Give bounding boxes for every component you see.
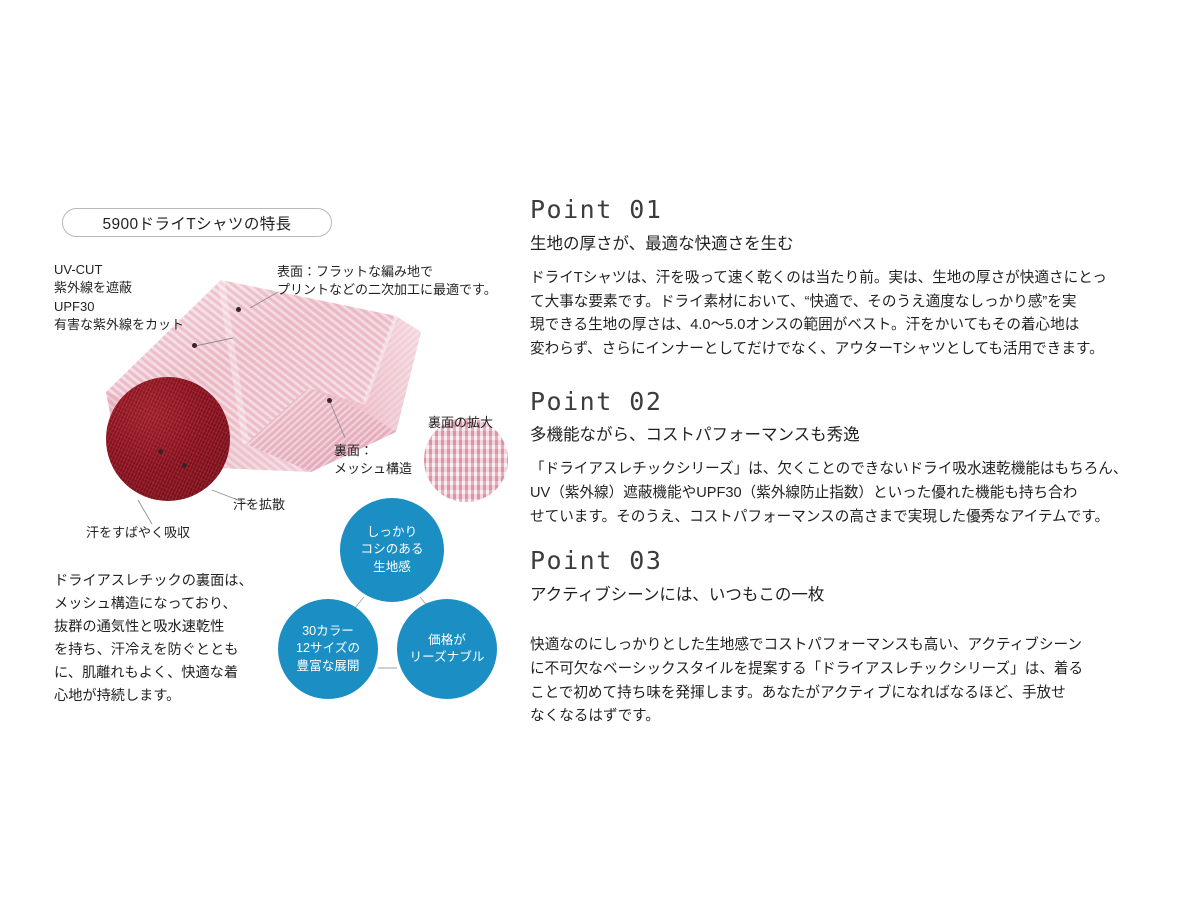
point-block-01: Point 01 生地の厚さが、最適な快適さを生む ドライTシャツは、汗を吸って…: [530, 196, 1175, 362]
page-root: 5900ドライTシャツの特長: [0, 0, 1200, 900]
fabric-dot: [182, 463, 187, 468]
callout-leader-lines: [0, 0, 520, 720]
point-02-body: 「ドライアスレチックシリーズ」は、欠くことのできないドライ吸水速乾機能はもちろん…: [530, 458, 1175, 529]
point-03-body: 快適なのにしっかりとした生地感でコストパフォーマンスも高い、アクティブシーン に…: [530, 634, 1175, 729]
right-column: Point 01 生地の厚さが、最適な快適さを生む ドライTシャツは、汗を吸って…: [530, 196, 1175, 733]
point-01-subtitle: 生地の厚さが、最適な快適さを生む: [530, 234, 1175, 255]
point-01-label: Point 01: [530, 196, 1175, 224]
fabric-dot: [158, 449, 163, 454]
point-03-subtitle: アクティブシーンには、いつもこの一枚: [530, 585, 1175, 606]
point-02-label: Point 02: [530, 388, 1175, 416]
fabric-dot: [236, 307, 241, 312]
point-01-body: ドライTシャツは、汗を吸って速く乾くのは当たり前。実は、生地の厚さが快適さにとっ…: [530, 267, 1175, 362]
fabric-dot: [327, 398, 332, 403]
point-02-subtitle: 多機能ながら、コストパフォーマンスも秀逸: [530, 425, 1175, 446]
fabric-dot: [192, 343, 197, 348]
point-block-03: Point 03 アクティブシーンには、いつもこの一枚 快適なのにしっかりとした…: [530, 547, 1175, 729]
point-block-02: Point 02 多機能ながら、コストパフォーマンスも秀逸 「ドライアスレチック…: [530, 388, 1175, 530]
left-column: 5900ドライTシャツの特長: [0, 0, 520, 900]
point-03-label: Point 03: [530, 547, 1175, 575]
